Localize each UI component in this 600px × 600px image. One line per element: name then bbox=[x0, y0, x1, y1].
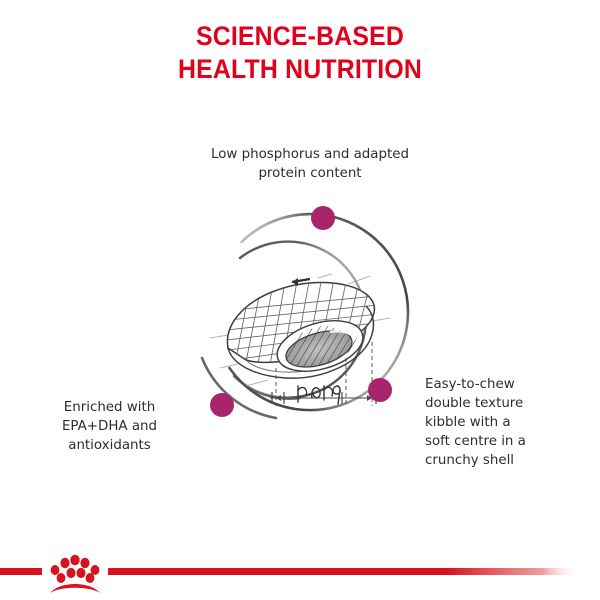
kibble-diagram bbox=[180, 200, 420, 440]
feature-left-line-2: EPA+DHA and bbox=[22, 417, 197, 436]
feature-left-line-1: Enriched with bbox=[22, 398, 197, 417]
royal-canin-crown-icon bbox=[50, 555, 100, 593]
headline-line-1: SCIENCE-BASED bbox=[24, 20, 576, 53]
accent-dot-right bbox=[368, 378, 392, 402]
feature-right-line-1: Easy-to-chew bbox=[425, 375, 590, 394]
headline-line-2: HEALTH NUTRITION bbox=[24, 53, 576, 86]
feature-right-line-2: double texture bbox=[425, 394, 590, 413]
brand-footer bbox=[0, 530, 600, 600]
feature-top-line-1: Low phosphorus and adapted bbox=[150, 145, 470, 164]
accent-dot-top bbox=[311, 206, 335, 230]
kibble-sketch bbox=[226, 276, 378, 388]
page-title: SCIENCE-BASED HEALTH NUTRITION bbox=[24, 20, 576, 86]
feature-right-line-5: crunchy shell bbox=[425, 451, 590, 470]
feature-label-low-phosphorus: Low phosphorus and adapted protein conte… bbox=[150, 145, 470, 183]
accent-dot-bottom-left bbox=[210, 393, 234, 417]
feature-label-epa-dha: Enriched with EPA+DHA and antioxidants bbox=[22, 398, 197, 455]
feature-label-easy-to-chew: Easy-to-chew double texture kibble with … bbox=[425, 375, 590, 470]
feature-top-line-2: protein content bbox=[150, 164, 470, 183]
feature-right-line-3: kibble with a bbox=[425, 413, 590, 432]
feature-left-line-3: antioxidants bbox=[22, 436, 197, 455]
product-feature-panel: SCIENCE-BASED HEALTH NUTRITION Low phosp… bbox=[0, 0, 600, 600]
brand-rule-right bbox=[108, 568, 580, 575]
brand-rule-left bbox=[0, 568, 42, 575]
feature-right-line-4: soft centre in a bbox=[425, 432, 590, 451]
